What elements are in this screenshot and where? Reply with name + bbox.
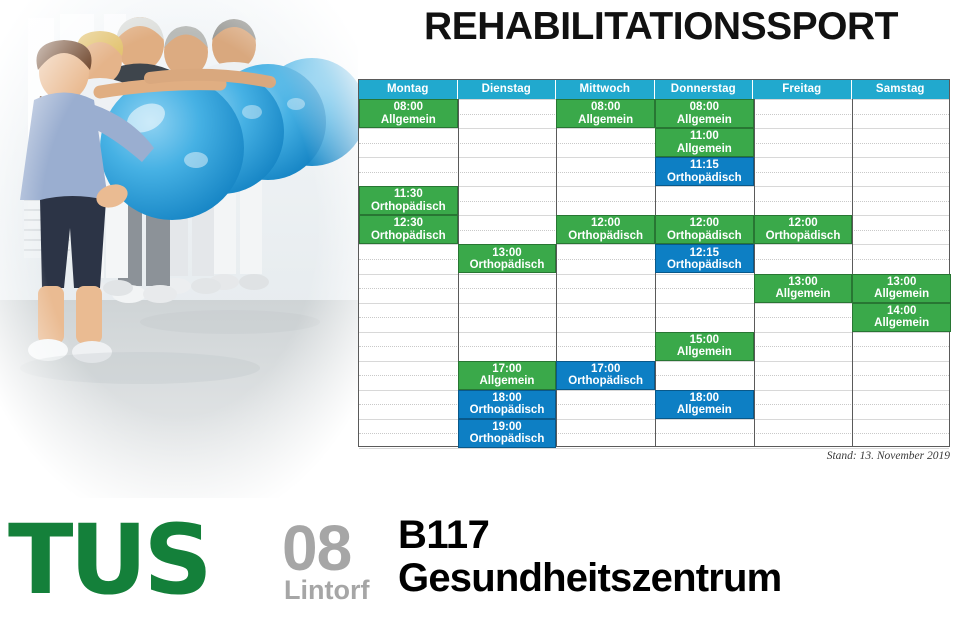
entry-time: 11:00 [690,130,719,142]
schedule-column-header-0: Montag [359,80,458,99]
grid-vline [556,99,557,446]
schedule-entry[interactable]: 08:00Allgemein [655,99,754,128]
entry-time: 13:00 [887,276,916,288]
entry-kind: Allgemein [677,143,732,155]
schedule-entry[interactable]: 14:00Allgemein [852,303,951,332]
schedule-entry[interactable]: 17:00Allgemein [458,361,557,390]
schedule-entry[interactable]: 12:00Orthopädisch [754,215,853,244]
entry-time: 12:00 [591,217,620,229]
entry-kind: Allgemein [480,375,535,387]
schedule-column-header-1: Dienstag [458,80,557,99]
entry-time: 08:00 [394,101,423,113]
schedule-entry[interactable]: 08:00Allgemein [556,99,655,128]
grid-hline [359,259,949,260]
last-updated-note: Stand: 13. November 2019 [827,450,950,462]
entry-time: 15:00 [690,334,719,346]
schedule-entry[interactable]: 12:00Orthopädisch [655,215,754,244]
grid-hline [359,143,949,144]
entry-kind: Orthopädisch [568,375,643,387]
entry-kind: Orthopädisch [667,230,742,242]
schedule-entry[interactable]: 11:15Orthopädisch [655,157,754,186]
entry-kind: Orthopädisch [371,201,446,213]
entry-kind: Orthopädisch [470,404,545,416]
schedule-entry[interactable]: 17:00Orthopädisch [556,361,655,390]
grid-hline [359,346,949,347]
entry-time: 11:30 [394,188,423,200]
schedule-entry[interactable]: 11:00Allgemein [655,128,754,157]
schedule-entry[interactable]: 08:00Allgemein [359,99,458,128]
entry-kind: Orthopädisch [766,230,841,242]
entry-kind: Allgemein [578,114,633,126]
entry-time: 12:00 [690,217,719,229]
entry-kind: Allgemein [677,114,732,126]
entry-time: 12:00 [788,217,817,229]
schedule-entry[interactable]: 11:30Orthopädisch [359,186,458,215]
logo-place: Lintorf [284,577,369,604]
schedule-entry[interactable]: 18:00Allgemein [655,390,754,419]
entry-kind: Allgemein [677,346,732,358]
grid-hline [359,332,949,333]
grid-vline [852,99,853,446]
schedule-column-header-3: Donnerstag [655,80,754,99]
entry-kind: Orthopädisch [568,230,643,242]
logo-number: 08 [282,516,351,580]
schedule-entry[interactable]: 12:15Orthopädisch [655,244,754,273]
page-title: REHABILITATIONSSPORT [368,4,954,50]
entry-time: 18:00 [492,392,521,404]
grid-hline [359,433,949,434]
entry-time: 17:00 [492,363,521,375]
schedule-column-header-2: Mittwoch [556,80,655,99]
entry-time: 12:15 [690,247,719,259]
entry-time: 19:00 [492,421,521,433]
hero-photo [0,0,358,498]
entry-time: 08:00 [591,101,620,113]
entry-kind: Allgemein [381,114,436,126]
logo-tus-text: TUS [8,512,209,608]
grid-hline [359,157,949,158]
schedule-header-row: MontagDienstagMittwochDonnerstagFreitagS… [359,80,949,99]
grid-hline [359,172,949,173]
schedule-entry[interactable]: 19:00Orthopädisch [458,419,557,448]
exercise-group-photo [0,0,358,498]
entry-kind: Orthopädisch [371,230,446,242]
schedule-entry[interactable]: 13:00Allgemein [852,274,951,303]
entry-kind: Allgemein [874,288,929,300]
grid-hline [359,390,949,391]
entry-kind: Orthopädisch [667,259,742,271]
schedule-column-header-4: Freitag [753,80,852,99]
entry-time: 08:00 [690,101,719,113]
entry-time: 14:00 [887,305,916,317]
footer: TUS 08 Lintorf B117 Gesundheitszentrum [0,498,956,637]
schedule-entry[interactable]: 18:00Orthopädisch [458,390,557,419]
entry-kind: Orthopädisch [470,433,545,445]
grid-hline [359,448,949,449]
grid-hline [359,419,949,420]
entry-time: 11:15 [690,159,719,171]
entry-kind: Allgemein [776,288,831,300]
schedule-entry[interactable]: 13:00Allgemein [754,274,853,303]
grid-hline [359,244,949,245]
entry-kind: Allgemein [874,317,929,329]
schedule-entry[interactable]: 15:00Allgemein [655,332,754,361]
schedule-table: MontagDienstagMittwochDonnerstagFreitagS… [358,79,950,447]
brand-block: B117 Gesundheitszentrum [398,514,781,600]
entry-time: 13:00 [492,247,521,259]
schedule-grid: 08:00Allgemein08:00Allgemein08:00Allgeme… [359,99,949,446]
entry-time: 13:00 [788,276,817,288]
brand-line-1: B117 [398,514,781,556]
grid-vline [754,99,755,446]
brand-line-2: Gesundheitszentrum [398,556,781,600]
schedule-entry[interactable]: 12:30Orthopädisch [359,215,458,244]
schedule-entry[interactable]: 13:00Orthopädisch [458,244,557,273]
schedule-entry[interactable]: 12:00Orthopädisch [556,215,655,244]
entry-kind: Orthopädisch [470,259,545,271]
entry-kind: Allgemein [677,404,732,416]
entry-time: 12:30 [394,217,423,229]
entry-kind: Orthopädisch [667,172,742,184]
entry-time: 17:00 [591,363,620,375]
schedule-column-header-5: Samstag [852,80,950,99]
entry-time: 18:00 [690,392,719,404]
grid-hline [359,128,949,129]
grid-hline [359,404,949,405]
